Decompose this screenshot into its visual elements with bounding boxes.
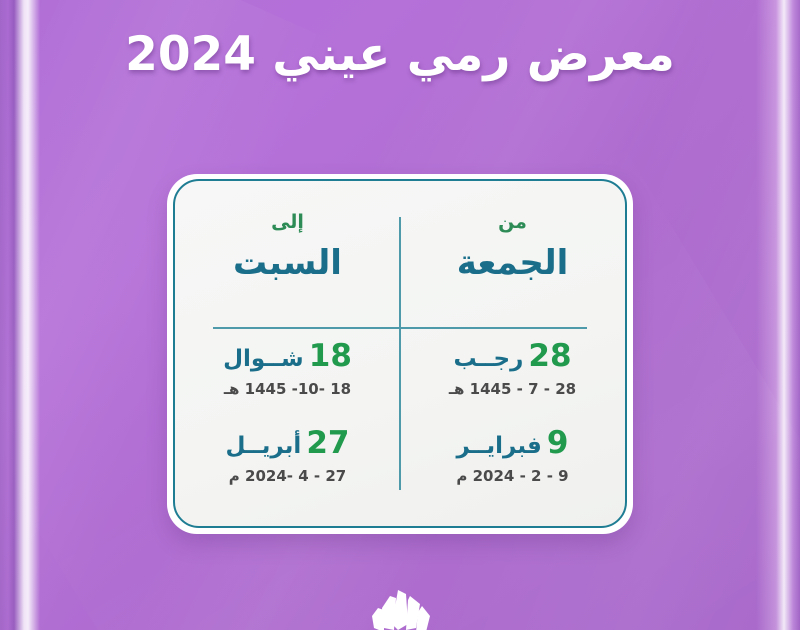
to-day-name: السبت — [175, 243, 400, 283]
from-gregorian-numeric: 9 - 2 - 2024 م — [400, 467, 625, 485]
column-from: من الجمعة 28 رجــب 28 - 7 - 1445 هـ 9 فب… — [400, 181, 625, 526]
from-gregorian-month: فبرايــر — [457, 433, 542, 459]
to-gregorian-day: 27 — [306, 425, 349, 461]
to-hijri-month: شــوال — [223, 346, 304, 372]
to-hijri-date: 18 شــوال 18 -10- 1445 هـ — [175, 339, 400, 398]
from-gregorian-day: 9 — [547, 425, 569, 461]
column-to: إلى السبت 18 شــوال 18 -10- 1445 هـ 27 أ… — [175, 181, 400, 526]
to-gregorian-main: 27 أبريــل — [175, 426, 400, 460]
background-edge-bar-left — [0, 0, 46, 630]
date-range-card: من الجمعة 28 رجــب 28 - 7 - 1445 هـ 9 فب… — [167, 174, 633, 534]
to-hijri-day: 18 — [309, 338, 352, 374]
to-label: إلى — [175, 211, 400, 233]
from-day-name: الجمعة — [400, 243, 625, 283]
to-hijri-main: 18 شــوال — [175, 339, 400, 373]
from-label: من — [400, 211, 625, 233]
event-date-poster: معرض رمي عيني 2024 من الجمعة 28 رجــب 28… — [0, 0, 800, 630]
from-hijri-main: 28 رجــب — [400, 339, 625, 373]
from-hijri-date: 28 رجــب 28 - 7 - 1445 هـ — [400, 339, 625, 398]
from-gregorian-date: 9 فبرايــر 9 - 2 - 2024 م — [400, 426, 625, 485]
from-hijri-numeric: 28 - 7 - 1445 هـ — [400, 380, 625, 398]
to-hijri-numeric: 18 -10- 1445 هـ — [175, 380, 400, 398]
to-gregorian-month: أبريــل — [226, 433, 302, 459]
to-gregorian-numeric: 27 - 4 -2024 م — [175, 467, 400, 485]
card-body: من الجمعة 28 رجــب 28 - 7 - 1445 هـ 9 فب… — [173, 179, 627, 528]
background-edge-bar-right — [746, 0, 800, 630]
from-gregorian-main: 9 فبرايــر — [400, 426, 625, 460]
to-gregorian-date: 27 أبريــل 27 - 4 -2024 م — [175, 426, 400, 485]
palm-logo-icon — [354, 584, 446, 630]
page-title: معرض رمي عيني 2024 — [0, 26, 800, 85]
from-hijri-day: 28 — [528, 338, 571, 374]
from-hijri-month: رجــب — [453, 346, 523, 372]
